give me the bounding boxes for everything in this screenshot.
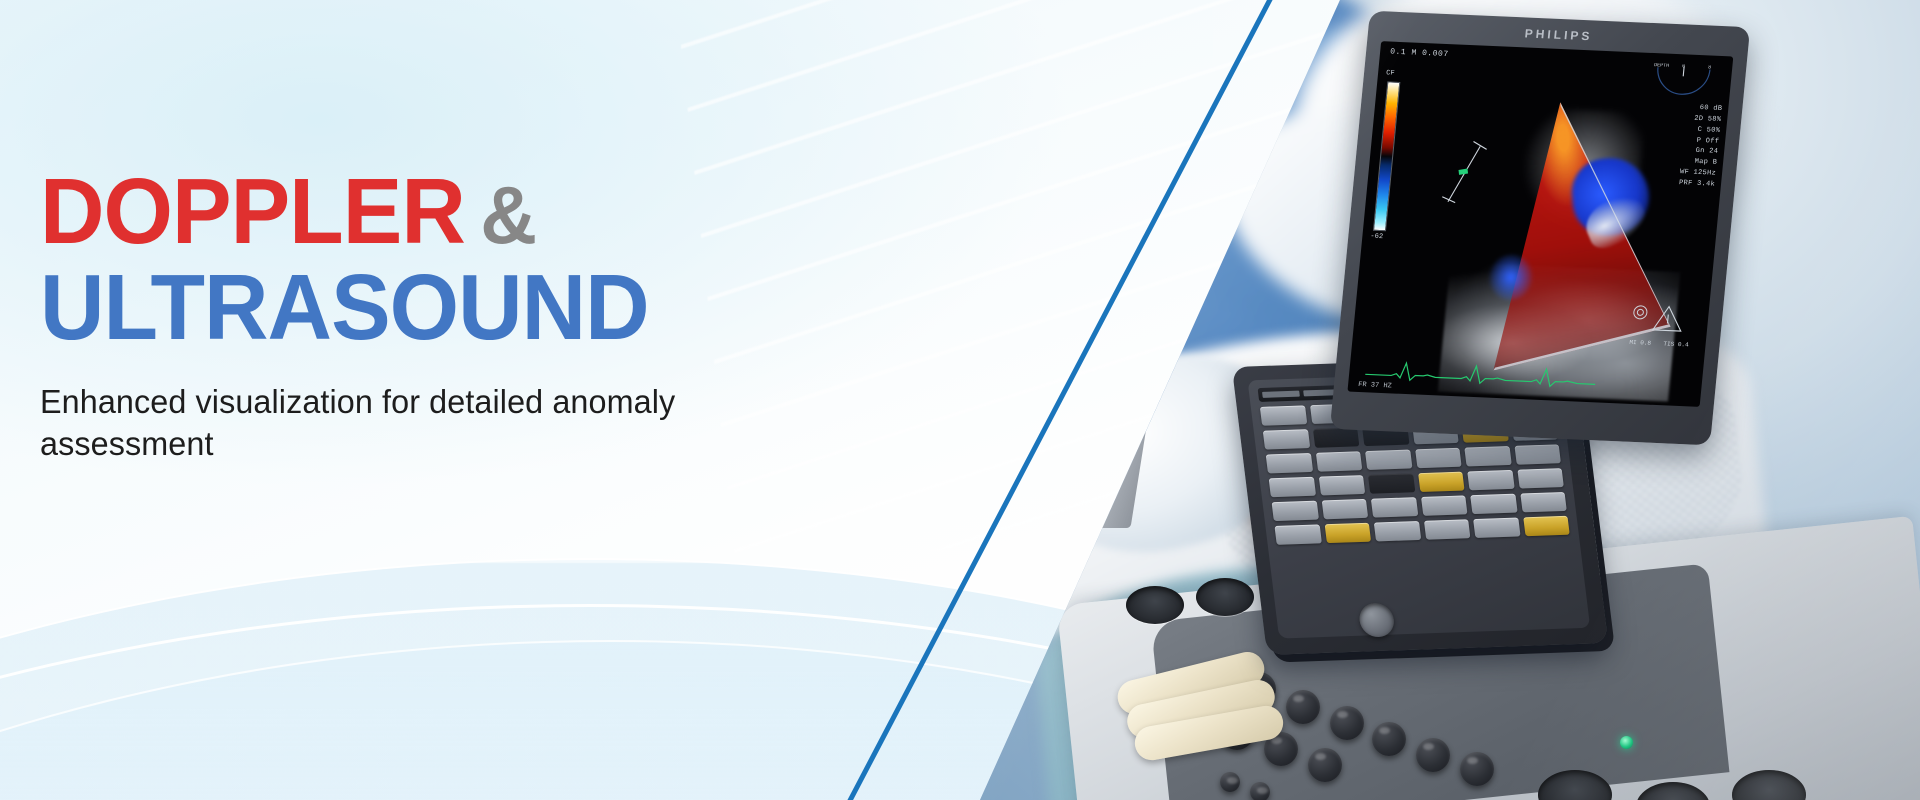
hero-copy-block: DOPPLER& ULTRASOUND Enhanced visualizati… xyxy=(40,168,940,465)
screen-caliper-markers xyxy=(1435,137,1496,209)
power-led-indicator xyxy=(1620,736,1633,749)
probe-holder[interactable] xyxy=(1126,586,1184,624)
control-panel-key[interactable] xyxy=(1269,477,1316,497)
console-toggle-knob[interactable] xyxy=(1220,772,1240,792)
control-panel-key-active[interactable] xyxy=(1418,472,1465,492)
screen-depth-gauge: DEPTH 0 8 xyxy=(1649,63,1716,100)
console-knob[interactable] xyxy=(1330,706,1364,740)
control-panel-key[interactable] xyxy=(1374,521,1421,541)
control-panel-key[interactable] xyxy=(1415,448,1462,468)
control-panel-key[interactable] xyxy=(1464,446,1511,466)
colorbar-bottom-label: -62 xyxy=(1370,233,1383,242)
console-knob[interactable] xyxy=(1460,752,1494,786)
headline-ampersand: & xyxy=(465,170,536,261)
control-panel-key[interactable] xyxy=(1421,495,1468,515)
svg-text:DEPTH: DEPTH xyxy=(1654,63,1670,69)
control-panel-key[interactable] xyxy=(1365,450,1412,470)
screen-top-info: 0.1 M 0.007 xyxy=(1390,48,1449,60)
control-panel-key[interactable] xyxy=(1318,475,1365,495)
control-panel-key[interactable] xyxy=(1321,499,1368,519)
headline-line-1: DOPPLER& xyxy=(40,168,904,254)
control-panel-key[interactable] xyxy=(1315,451,1362,471)
control-panel-key[interactable] xyxy=(1470,494,1517,514)
screen-readout-list: 60 dB 2D 58% C 50% P Off Gn 24 Map B WF … xyxy=(1640,101,1722,191)
svg-text:TIS 0.4: TIS 0.4 xyxy=(1663,340,1689,348)
control-panel-key-inactive[interactable] xyxy=(1368,473,1415,493)
control-panel-key-inactive[interactable] xyxy=(1312,427,1359,447)
control-panel-key[interactable] xyxy=(1371,497,1418,517)
control-panel-key[interactable] xyxy=(1467,470,1514,490)
control-panel-key[interactable] xyxy=(1517,468,1564,488)
control-panel-key[interactable] xyxy=(1473,518,1520,538)
control-panel-key-active[interactable] xyxy=(1523,516,1570,536)
headline-word-ultrasound: ULTRASOUND xyxy=(40,255,649,359)
control-panel-row xyxy=(1274,516,1569,545)
control-panel-key[interactable] xyxy=(1260,405,1307,425)
control-panel-key[interactable] xyxy=(1274,524,1321,544)
control-panel-key[interactable] xyxy=(1266,453,1313,473)
console-knob[interactable] xyxy=(1308,748,1342,782)
control-panel-key[interactable] xyxy=(1423,519,1470,539)
svg-text:8: 8 xyxy=(1708,64,1712,70)
console-knob[interactable] xyxy=(1416,738,1450,772)
console-knob[interactable] xyxy=(1372,722,1406,756)
ultrasound-monitor: PHILIPS 0.1 M 0.007 CF -62 xyxy=(1330,11,1750,446)
probe-holder[interactable] xyxy=(1196,578,1254,616)
control-panel-key[interactable] xyxy=(1263,429,1310,449)
screen-index-indicators: MI 0.8 TIS 0.4 xyxy=(1625,302,1699,351)
colorbar-top-label: CF xyxy=(1386,69,1395,77)
control-panel-key[interactable] xyxy=(1520,492,1567,512)
control-panel-key-active[interactable] xyxy=(1324,523,1371,543)
svg-text:MI 0.8: MI 0.8 xyxy=(1629,339,1652,347)
headline-word-doppler: DOPPLER xyxy=(40,159,465,263)
control-panel-key[interactable] xyxy=(1272,501,1319,521)
console-toggle-knob[interactable] xyxy=(1250,782,1270,800)
doppler-colorbar xyxy=(1373,81,1400,231)
level-tick xyxy=(1262,391,1300,398)
console-knob[interactable] xyxy=(1286,690,1320,724)
headline-line-2: ULTRASOUND xyxy=(40,264,904,350)
screen-bottom-info: FR 37 HZ xyxy=(1358,381,1392,390)
hero-banner: DOPPLER& ULTRASOUND Enhanced visualizati… xyxy=(0,0,1920,800)
control-panel-key[interactable] xyxy=(1514,444,1561,464)
svg-text:0: 0 xyxy=(1682,63,1686,69)
hero-subtitle: Enhanced visualization for detailed anom… xyxy=(40,381,726,465)
monitor-screen: 0.1 M 0.007 CF -62 xyxy=(1347,41,1733,407)
